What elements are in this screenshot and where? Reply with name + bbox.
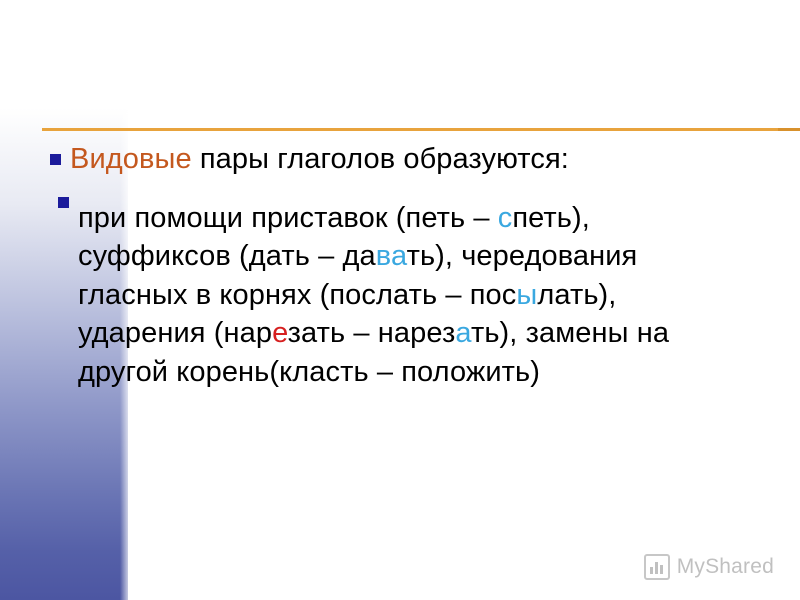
bullet-2-text: при помощи приставок (петь – спеть), суф… bbox=[78, 199, 750, 392]
slide-canvas: Видовые пары глаголов образуются: при по… bbox=[0, 0, 800, 600]
text-run: е bbox=[272, 317, 288, 349]
slide-content: Видовые пары глаголов образуются: при по… bbox=[50, 140, 750, 395]
chart-logo-icon bbox=[644, 554, 670, 580]
text-run: а bbox=[455, 317, 471, 349]
text-run: при помощи приставок (петь – bbox=[78, 202, 498, 234]
text-run: пары глаголов образуются: bbox=[192, 143, 569, 175]
text-run: ва bbox=[376, 240, 407, 272]
square-bullet-icon bbox=[50, 154, 61, 165]
myshared-watermark: MyShared bbox=[644, 554, 774, 580]
text-run: зать – нарез bbox=[288, 317, 456, 349]
square-bullet-icon bbox=[58, 197, 69, 208]
bullet-item-1: Видовые пары глаголов образуются: bbox=[50, 140, 750, 179]
bullet-item-2: при помощи приставок (петь – спеть), суф… bbox=[50, 183, 750, 392]
title-divider-rule bbox=[42, 128, 784, 131]
title-divider-rule-tail bbox=[778, 128, 800, 131]
text-run: Видовые bbox=[70, 143, 192, 175]
watermark-label: MyShared bbox=[677, 555, 774, 579]
bullet-1-text: Видовые пары глаголов образуются: bbox=[70, 140, 750, 179]
text-run: с bbox=[498, 202, 513, 234]
text-run: ы bbox=[516, 279, 537, 311]
